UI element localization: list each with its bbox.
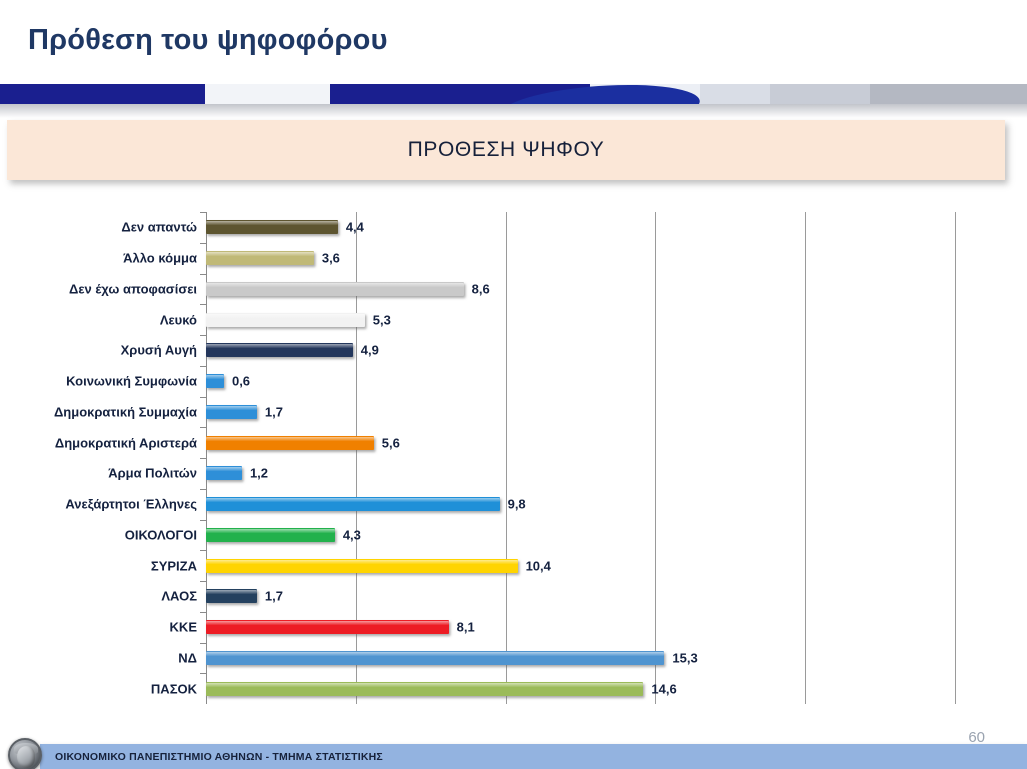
category-label: Δεν απαντώ	[121, 220, 197, 235]
chart-title: ΠΡΟΘΕΣΗ ΨΗΦΟΥ	[408, 138, 605, 162]
footer-text: ΟΙΚΟΝΟΜΙΚΟ ΠΑΝΕΠΙΣΤΗΜΙΟ ΑΘΗΝΩΝ - ΤΜΗΜΑ Σ…	[55, 751, 383, 763]
category-label: ΚΚΕ	[170, 620, 197, 635]
university-seal-logo-icon	[8, 738, 42, 769]
bar-value-label: 1,2	[250, 466, 268, 481]
bar	[206, 682, 643, 696]
bar	[206, 436, 374, 450]
bar-row: ΣΥΡΙΖΑ10,4	[206, 550, 955, 581]
bar	[206, 589, 257, 603]
bar-row: ΠΑΣΟΚ14,6	[206, 673, 955, 704]
y-axis-tick	[200, 643, 206, 644]
bar-row: Ανεξάρτητοι Έλληνες9,8	[206, 489, 955, 520]
bar-value-label: 5,6	[382, 435, 400, 450]
chart-title-box: ΠΡΟΘΕΣΗ ΨΗΦΟΥ	[7, 120, 1005, 180]
bar-value-label: 1,7	[265, 589, 283, 604]
bar-value-label: 0,6	[232, 374, 250, 389]
y-axis-tick	[200, 673, 206, 674]
y-axis-tick	[200, 458, 206, 459]
bar-value-label: 5,3	[373, 312, 391, 327]
y-axis-tick	[200, 520, 206, 521]
bar-row: Δεν έχω αποφασίσει8,6	[206, 274, 955, 305]
y-axis-tick	[200, 581, 206, 582]
y-axis-tick	[200, 397, 206, 398]
category-label: ΠΑΣΟΚ	[151, 681, 197, 696]
y-axis-tick	[200, 550, 206, 551]
bar	[206, 343, 353, 357]
y-axis-tick	[200, 489, 206, 490]
plot-area: Δεν απαντώ4,4Άλλο κόμμα3,6Δεν έχω αποφασ…	[206, 212, 955, 704]
slide: Πρόθεση του ψηφοφόρου ΠΡΟΘΕΣΗ ΨΗΦΟΥ Δεν …	[0, 0, 1027, 769]
gridline-25-0	[955, 212, 956, 704]
bar-row: Δεν απαντώ4,4	[206, 212, 955, 243]
bar	[206, 651, 664, 665]
category-label: Λευκό	[160, 312, 197, 327]
bar-row: Κοινωνική Συμφωνία0,6	[206, 366, 955, 397]
bar-value-label: 4,9	[361, 343, 379, 358]
bar	[206, 405, 257, 419]
bar-value-label: 10,4	[526, 558, 551, 573]
y-axis-tick	[200, 335, 206, 336]
bar-value-label: 4,4	[346, 220, 364, 235]
bar-row: Δημοκρατική Αριστερά5,6	[206, 427, 955, 458]
category-label: Ανεξάρτητοι Έλληνες	[65, 497, 197, 512]
bar-value-label: 9,8	[508, 497, 526, 512]
y-axis-tick	[200, 427, 206, 428]
bar	[206, 374, 224, 388]
decorative-banner	[0, 84, 1027, 104]
bar	[206, 282, 464, 296]
bar	[206, 497, 500, 511]
bar-value-label: 3,6	[322, 251, 340, 266]
footer-bar: ΟΙΚΟΝΟΜΙΚΟ ΠΑΝΕΠΙΣΤΗΜΙΟ ΑΘΗΝΩΝ - ΤΜΗΜΑ Σ…	[40, 744, 1027, 769]
bar-value-label: 14,6	[651, 681, 676, 696]
bar	[206, 528, 335, 542]
bar-row: ΟΙΚΟΛΟΓΟΙ4,3	[206, 520, 955, 551]
category-label: Δημοκρατική Συμμαχία	[54, 404, 197, 419]
bar-row: ΝΔ15,3	[206, 643, 955, 674]
category-label: Δεν έχω αποφασίσει	[69, 281, 197, 296]
bar	[206, 559, 518, 573]
bar-row: Χρυσή Αυγή4,9	[206, 335, 955, 366]
y-axis-tick	[200, 243, 206, 244]
category-label: Χρυσή Αυγή	[121, 343, 197, 358]
category-label: Άρμα Πολιτών	[108, 466, 197, 481]
category-label: Κοινωνική Συμφωνία	[66, 374, 197, 389]
bar-chart: Δεν απαντώ4,4Άλλο κόμμα3,6Δεν έχω αποφασ…	[0, 196, 1027, 726]
bar-row: Άρμα Πολιτών1,2	[206, 458, 955, 489]
y-axis-tick	[200, 212, 206, 213]
category-label: Δημοκρατική Αριστερά	[55, 435, 197, 450]
bar-value-label: 1,7	[265, 404, 283, 419]
y-axis-tick	[200, 274, 206, 275]
bar	[206, 313, 365, 327]
page-title: Πρόθεση του ψηφοφόρου	[28, 24, 388, 57]
category-label: ΣΥΡΙΖΑ	[151, 558, 197, 573]
category-label: ΝΔ	[178, 650, 197, 665]
category-label: ΟΙΚΟΛΟΓΟΙ	[125, 527, 197, 542]
bar	[206, 466, 242, 480]
bar	[206, 251, 314, 265]
banner-swoosh-shape	[499, 84, 702, 104]
bar-row: Άλλο κόμμα3,6	[206, 243, 955, 274]
y-axis-tick	[200, 612, 206, 613]
bar-row: ΚΚΕ8,1	[206, 612, 955, 643]
seal-head-shape	[17, 746, 35, 768]
bar	[206, 620, 449, 634]
bar-row: Δημοκρατική Συμμαχία1,7	[206, 397, 955, 428]
bar-value-label: 15,3	[672, 650, 697, 665]
y-axis-tick	[200, 304, 206, 305]
banner-shadow	[0, 104, 1027, 118]
bar-row: Λευκό5,3	[206, 304, 955, 335]
category-label: ΛΑΟΣ	[161, 589, 197, 604]
bar-value-label: 4,3	[343, 527, 361, 542]
bar-row: ΛΑΟΣ1,7	[206, 581, 955, 612]
bar	[206, 220, 338, 234]
bar-value-label: 8,1	[457, 620, 475, 635]
bar-value-label: 8,6	[472, 281, 490, 296]
y-axis-tick	[200, 366, 206, 367]
category-label: Άλλο κόμμα	[123, 251, 197, 266]
